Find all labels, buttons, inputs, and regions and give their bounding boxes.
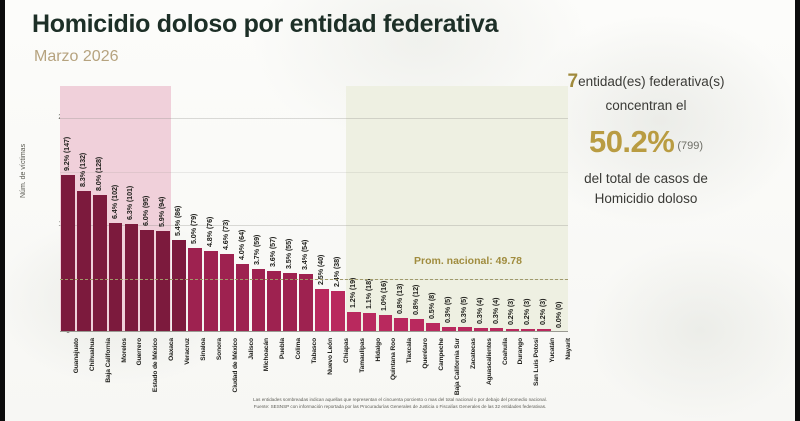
bar-slot[interactable]: 0.2% (3) — [505, 86, 521, 332]
bar-value-label: 0.5% (8) — [427, 293, 436, 319]
bar-value-label: 0.8% (13) — [396, 284, 405, 314]
bar-value-label: 1.2% (19) — [348, 277, 357, 307]
bar-value-label: 0.2% (3) — [538, 298, 547, 324]
slide-root: Homicidio doloso por entidad federativa … — [0, 0, 800, 421]
x-axis-label: Oaxaca — [168, 338, 175, 361]
footnote: Las entidades sombreadas indican aquella… — [120, 396, 680, 411]
bar-slot[interactable]: 2.4% (38) — [330, 86, 346, 332]
bar-value-label: 1.1% (18) — [364, 278, 373, 308]
bar[interactable] — [315, 289, 329, 332]
bar-value-label: 0.3% (5) — [443, 296, 452, 322]
bar-chart: Núm. de víctimas 0100200 9.2% (147)8.3% … — [24, 86, 584, 406]
bar-value-label: 4.0% (64) — [237, 229, 246, 259]
page-title: Homicidio doloso por entidad federativa — [32, 10, 498, 39]
x-axis-label: Baja California Sur — [454, 338, 461, 395]
bar[interactable] — [93, 195, 107, 332]
x-axis-label: Chihuahua — [89, 338, 96, 371]
bar[interactable] — [140, 230, 154, 332]
bar-value-label: 0.2% (3) — [523, 298, 532, 324]
x-axis-label: Tlaxcala — [406, 338, 413, 363]
x-axis-label: Sonora — [216, 338, 223, 360]
bar-slot[interactable]: 3.4% (54) — [298, 86, 314, 332]
x-axis-label: Coahuila — [502, 338, 509, 365]
bar[interactable] — [347, 312, 361, 332]
bar-slot[interactable]: 0.3% (5) — [457, 86, 473, 332]
bar-slot[interactable]: 0.3% (4) — [473, 86, 489, 332]
x-axis-label: Durango — [517, 338, 524, 364]
bar-value-label: 0.3% (4) — [475, 297, 484, 323]
bar[interactable] — [363, 313, 377, 332]
bar-value-label: 6.0% (95) — [142, 196, 151, 226]
bar-value-label: 5.9% (94) — [157, 197, 166, 227]
bar-slot[interactable]: 1.1% (18) — [362, 86, 378, 332]
bar-value-label: 1.0% (16) — [380, 281, 389, 311]
bar-slot[interactable]: 0.3% (4) — [489, 86, 505, 332]
summary-percent: 50.2% — [589, 124, 674, 159]
x-axis-line — [60, 331, 568, 332]
footnote-line-1: Las entidades sombreadas indican aquella… — [120, 396, 680, 403]
national-average-line — [60, 279, 568, 280]
bar-slot[interactable]: 3.5% (55) — [282, 86, 298, 332]
x-axis-label: San Luis Potosí — [533, 338, 540, 386]
bar-slot[interactable]: 0.2% (3) — [520, 86, 536, 332]
bar-value-label: 3.6% (57) — [269, 237, 278, 267]
x-axis-label: Guerrero — [136, 338, 143, 365]
national-average-label: Prom. nacional: 49.78 — [414, 255, 522, 267]
x-axis-label: Chiapas — [343, 338, 350, 363]
x-axis-label: Quintana Roo — [390, 338, 397, 380]
bar-value-label: 2.5% (40) — [316, 255, 325, 285]
x-axis-label: Jalisco — [248, 338, 255, 360]
x-axis-label: Tabasco — [311, 338, 318, 364]
x-axis-label: Colima — [295, 338, 302, 359]
bar[interactable] — [156, 231, 170, 332]
bar-slot[interactable]: 4.6% (73) — [219, 86, 235, 332]
plot-area: 9.2% (147)8.3% (132)8.0% (128)6.4% (102)… — [60, 86, 568, 332]
bar-slot[interactable]: 1.2% (19) — [346, 86, 362, 332]
bar-value-label: 2.4% (38) — [332, 257, 341, 287]
x-axis-label: Nuevo León — [327, 338, 334, 375]
x-axis-label: Sinaloa — [200, 338, 207, 361]
bar-value-label: 0.8% (12) — [411, 285, 420, 315]
bar-slot[interactable]: 4.0% (64) — [235, 86, 251, 332]
bar[interactable] — [188, 248, 202, 332]
bar[interactable] — [283, 273, 297, 332]
bar-value-label: 0.2% (3) — [507, 298, 516, 324]
bar[interactable] — [394, 318, 408, 332]
bar-slot[interactable]: 2.5% (40) — [314, 86, 330, 332]
bar[interactable] — [220, 254, 234, 332]
bar-value-label: 0.3% (5) — [459, 296, 468, 322]
bar-slot[interactable]: 0.3% (5) — [441, 86, 457, 332]
bar-slot[interactable]: 8.0% (128) — [92, 86, 108, 332]
x-axis-label: Morelos — [121, 338, 128, 363]
bar[interactable] — [331, 291, 345, 332]
bar-value-label: 4.6% (73) — [221, 220, 230, 250]
bar-slot[interactable]: 5.9% (94) — [155, 86, 171, 332]
x-axis-label: Veracruz — [184, 338, 191, 365]
bar-slot[interactable]: 6.4% (102) — [108, 86, 124, 332]
x-axis-label: Ciudad de México — [232, 338, 239, 392]
x-axis-label: Michoacán — [263, 338, 270, 371]
x-axis-label: Estado de México — [152, 338, 159, 392]
bar-slot[interactable]: 8.3% (132) — [76, 86, 92, 332]
bar-slot[interactable]: 5.4% (86) — [171, 86, 187, 332]
bar[interactable] — [267, 271, 281, 332]
bar-value-label: 8.0% (128) — [94, 157, 103, 191]
bar-value-label: 4.8% (76) — [205, 216, 214, 246]
bar-value-label: 3.5% (55) — [284, 239, 293, 269]
bar-value-label: 3.4% (54) — [300, 240, 309, 270]
bar-slot[interactable]: 6.0% (95) — [139, 86, 155, 332]
bar-value-label: 6.3% (101) — [126, 186, 135, 220]
bar-slot[interactable]: 9.2% (147) — [60, 86, 76, 332]
x-axis-label: Hidalgo — [375, 338, 382, 361]
x-axis-label: Guanajuato — [73, 338, 80, 373]
x-axis-label: Querétaro — [422, 338, 429, 369]
bar[interactable] — [204, 251, 218, 332]
bar[interactable] — [299, 274, 313, 332]
x-axis-label: Tamaulipas — [359, 338, 366, 373]
summary-percent-absolute: (799) — [677, 140, 703, 152]
bar[interactable] — [109, 223, 123, 332]
bar-slot[interactable]: 3.7% (59) — [251, 86, 267, 332]
x-axis-label: Puebla — [279, 338, 286, 359]
bar-value-label: 0.3% (4) — [491, 297, 500, 323]
bar-slot[interactable]: 0.2% (3) — [536, 86, 552, 332]
bar-value-label: 5.4% (86) — [173, 206, 182, 236]
bar[interactable] — [236, 264, 250, 332]
summary-entity-text: entidad(es) federativa(s) — [578, 74, 724, 89]
bar-slot[interactable]: 1.0% (16) — [378, 86, 394, 332]
bar[interactable] — [77, 191, 91, 332]
x-axis-label: Campeche — [438, 338, 445, 371]
footnote-line-2: Fuente: SESNSP con información reportada… — [120, 403, 680, 410]
x-axis-label: Baja California — [105, 338, 112, 383]
bar-slot[interactable]: 0.0% (0) — [552, 86, 568, 332]
y-axis-title: Núm. de víctimas — [20, 88, 27, 198]
bar-slot[interactable]: 3.6% (57) — [266, 86, 282, 332]
x-axis-label: Nayarit — [565, 338, 572, 360]
bar-slot[interactable]: 6.3% (101) — [124, 86, 140, 332]
x-axis-label: Yucatán — [549, 338, 556, 363]
bar-value-label: 6.4% (102) — [110, 185, 119, 219]
bar-value-label: 3.7% (59) — [253, 235, 262, 265]
x-axis-label: Aguascalientes — [486, 338, 493, 385]
bar[interactable] — [379, 315, 393, 332]
bar-value-label: 5.0% (79) — [189, 213, 198, 243]
bar-slot[interactable]: 0.5% (8) — [425, 86, 441, 332]
bar-slot[interactable]: 4.8% (76) — [203, 86, 219, 332]
bar[interactable] — [61, 175, 75, 332]
page-subtitle: Marzo 2026 — [34, 48, 119, 66]
bar-value-label: 8.3% (132) — [78, 153, 87, 187]
bar-slot[interactable]: 0.8% (12) — [409, 86, 425, 332]
bar-value-label: 9.2% (147) — [62, 137, 71, 171]
bar-slot[interactable]: 5.0% (79) — [187, 86, 203, 332]
bar[interactable] — [172, 240, 186, 332]
bar-slot[interactable]: 0.8% (13) — [393, 86, 409, 332]
x-axis-label: Zacatecas — [470, 338, 477, 369]
bar-value-label: 0.0% (0) — [554, 302, 563, 328]
